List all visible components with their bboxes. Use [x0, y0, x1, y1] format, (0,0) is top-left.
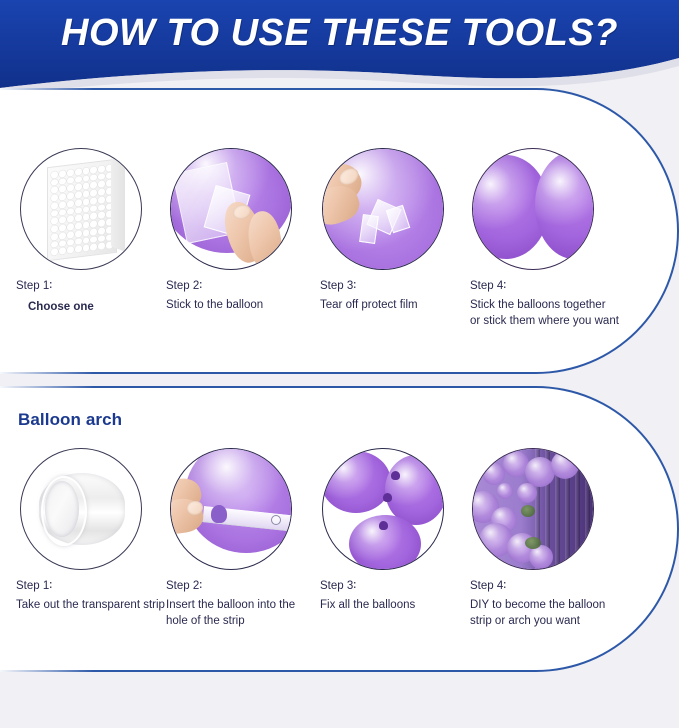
balloon-top-left	[322, 451, 391, 513]
two-balloons-stuck-image	[472, 148, 594, 270]
balloon-top-right	[385, 455, 444, 525]
step-description: Choose one	[16, 300, 166, 316]
panel-heading-balloon-arch: Balloon arch	[18, 410, 122, 430]
balloon-right-shape	[535, 151, 594, 259]
glue-dot-sheet-image	[20, 148, 142, 270]
balloon-knot-1	[383, 493, 392, 502]
step-label: Step 4∶	[470, 578, 655, 595]
arch-balloon	[551, 451, 579, 479]
step-description: Take out the transparent strip	[16, 598, 166, 614]
step-text-2: Step 2∶ Insert the balloon into the hole…	[166, 578, 318, 629]
step-desc-line-2: or stick them where you want	[470, 314, 655, 330]
step-desc-line: Stick the balloons together	[470, 298, 655, 314]
greenery-shape	[525, 537, 541, 549]
step-column-3: Step 3∶ Fix all the balloons	[320, 446, 470, 728]
step-label: Step 3∶	[320, 578, 470, 595]
arch-balloon	[517, 483, 537, 503]
step-column-1: Step 1∶ Take out the transparent strip	[16, 446, 166, 728]
panel-balloon-arch: Balloon arch Step 1∶ Take out the transp…	[0, 386, 679, 672]
step-label: Step 2∶	[166, 578, 318, 595]
step-desc-line: Choose one	[28, 300, 166, 316]
step-desc-line: Fix all the balloons	[320, 598, 470, 614]
step-description: Insert the balloon into the hole of the …	[166, 598, 318, 629]
step-column-4: Step 4∶ DIY to become the balloon strip …	[470, 446, 655, 728]
step-description: Stick the balloons together or stick the…	[470, 298, 655, 329]
step-desc-line: Stick to the balloon	[166, 298, 318, 314]
curtain-panel	[585, 449, 590, 569]
step-description: Stick to the balloon	[166, 298, 318, 314]
step-description: Fix all the balloons	[320, 598, 470, 614]
step-desc-line: Insert the balloon into the	[166, 598, 318, 614]
step-column-2: Step 2∶ Insert the balloon into the hole…	[166, 446, 318, 728]
step-text-1: Step 1∶ Choose one	[16, 278, 166, 316]
page-title: HOW TO USE THESE TOOLS?	[0, 14, 679, 52]
dot-sheet-shape	[47, 159, 117, 262]
header-banner: HOW TO USE THESE TOOLS?	[0, 0, 679, 96]
step-text-4: Step 4∶ Stick the balloons together or s…	[470, 278, 655, 329]
step-desc-line-2: hole of the strip	[166, 614, 318, 630]
finished-balloon-arch-image	[472, 448, 594, 570]
step-text-2: Step 2∶ Stick to the balloon	[166, 278, 318, 314]
step-label: Step 1∶	[16, 278, 166, 295]
step-label: Step 3∶	[320, 278, 470, 295]
tape-roll-shape	[39, 473, 125, 545]
step-label: Step 4∶	[470, 278, 655, 295]
step-text-4: Step 4∶ DIY to become the balloon strip …	[470, 578, 655, 629]
step-desc-line-2: strip or arch you want	[470, 614, 655, 630]
step-label: Step 2∶	[166, 278, 318, 295]
balloon-shape	[185, 448, 292, 553]
step-description: Tear off protect film	[320, 298, 470, 314]
strip-hole	[271, 515, 281, 525]
balloon-knot	[211, 505, 227, 523]
fix-all-balloons-image	[322, 448, 444, 570]
balloon-knot-2	[391, 471, 400, 480]
step-desc-line: DIY to become the balloon	[470, 598, 655, 614]
step-description: DIY to become the balloon strip or arch …	[470, 598, 655, 629]
panel-sticky-dots: Step 1∶ Choose one Step 2∶ Stick to the …	[0, 88, 679, 374]
transparent-tape-roll-image	[20, 448, 142, 570]
step-desc-line: Take out the transparent strip	[16, 598, 166, 614]
dot-grid	[51, 164, 113, 256]
step-text-3: Step 3∶ Fix all the balloons	[320, 578, 470, 614]
arch-balloon	[497, 483, 513, 499]
step-text-3: Step 3∶ Tear off protect film	[320, 278, 470, 314]
tear-protect-film-image	[322, 148, 444, 270]
dot-sheet-edge	[111, 158, 125, 252]
balloon-knot-3	[379, 521, 388, 530]
stick-dot-to-balloon-image	[170, 148, 292, 270]
greenery-shape	[521, 505, 535, 517]
arch-balloon	[483, 463, 505, 485]
insert-balloon-into-strip-image	[170, 448, 292, 570]
tape-roll-rim	[41, 476, 87, 546]
step-text-1: Step 1∶ Take out the transparent strip	[16, 578, 166, 614]
step-label: Step 1∶	[16, 578, 166, 595]
step-desc-line: Tear off protect film	[320, 298, 470, 314]
steps-row-balloon-arch: Step 1∶ Take out the transparent strip S…	[0, 446, 679, 728]
